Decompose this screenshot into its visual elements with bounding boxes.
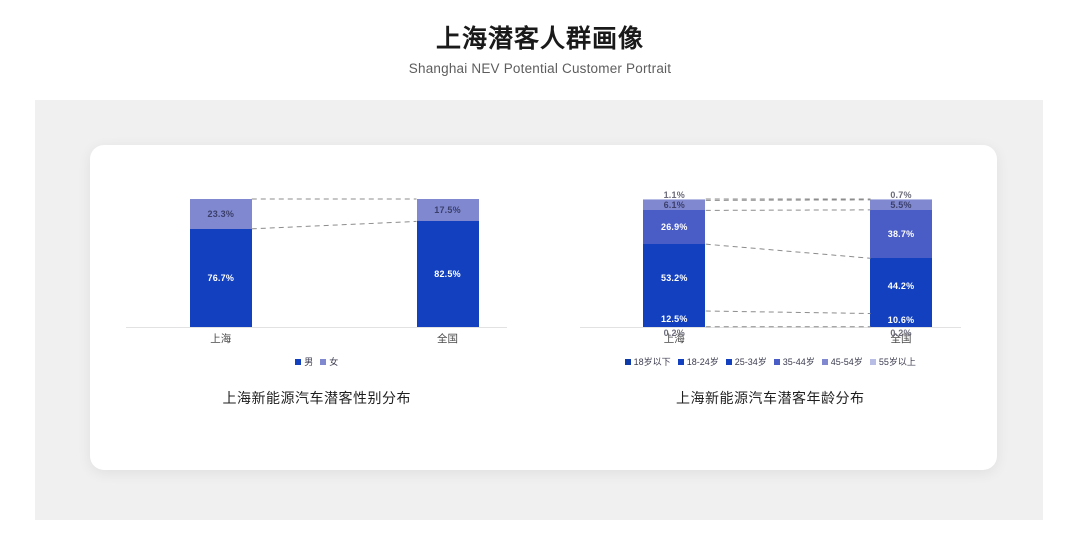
- age-legend: 18岁以下18-24岁25-34岁35-44岁45-54岁55岁以上: [544, 355, 998, 368]
- age-bar-shanghai[interactable]: 1.1%6.1%26.9%53.2%12.5%0.2%: [643, 199, 705, 327]
- page-header: 上海潜客人群画像 Shanghai NEV Potential Customer…: [0, 22, 1080, 79]
- chart-gender-distribution: 23.3%76.7% 17.5%82.5% 上海 全国 男女 上海新能源汽车潜客…: [90, 145, 544, 470]
- gender-bar-national[interactable]: 17.5%82.5%: [417, 199, 479, 327]
- age-segment-label: 6.1%: [664, 200, 685, 210]
- age-segment-label: 44.2%: [888, 281, 915, 291]
- gender-segment-label: 76.7%: [208, 273, 235, 283]
- gender-xlabel-national: 全国: [403, 331, 493, 346]
- gender-bar-shanghai[interactable]: 23.3%76.7%: [190, 199, 252, 327]
- gender-legend-item-男[interactable]: 男: [295, 355, 313, 368]
- age-segment-25-34岁[interactable]: 53.2%: [643, 244, 705, 311]
- gender-segment-男[interactable]: 76.7%: [190, 229, 252, 327]
- age-segment-label: 12.5%: [661, 314, 688, 324]
- slide-page: 上海潜客人群画像 Shanghai NEV Potential Customer…: [0, 0, 1080, 547]
- age-legend-item-18-24岁[interactable]: 18-24岁: [678, 355, 719, 368]
- age-segment-35-44岁[interactable]: 26.9%: [643, 210, 705, 244]
- page-subtitle: Shanghai NEV Potential Customer Portrait: [0, 59, 1080, 79]
- legend-swatch-icon: [870, 359, 876, 365]
- age-legend-label: 55岁以上: [879, 355, 916, 368]
- gender-legend: 男女: [90, 355, 544, 368]
- charts-row: 23.3%76.7% 17.5%82.5% 上海 全国 男女 上海新能源汽车潜客…: [90, 145, 997, 470]
- gender-xlabel-shanghai: 上海: [176, 331, 266, 346]
- gender-segment-label: 23.3%: [208, 209, 235, 219]
- age-legend-item-55岁以上[interactable]: 55岁以上: [870, 355, 916, 368]
- age-segment-label: 53.2%: [661, 273, 688, 283]
- gender-legend-label: 女: [329, 355, 338, 368]
- gender-segment-label: 82.5%: [434, 269, 461, 279]
- gender-legend-item-女[interactable]: 女: [320, 355, 338, 368]
- legend-swatch-icon: [625, 359, 631, 365]
- chart-age-distribution: 1.1%6.1%26.9%53.2%12.5%0.2% 0.7%5.5%38.7…: [544, 145, 998, 470]
- age-legend-item-25-34岁[interactable]: 25-34岁: [726, 355, 767, 368]
- legend-swatch-icon: [678, 359, 684, 365]
- age-bar-national[interactable]: 0.7%5.5%38.7%44.2%10.6%0.2%: [870, 199, 932, 327]
- age-segment-label: 5.5%: [890, 200, 911, 210]
- legend-swatch-icon: [320, 359, 326, 365]
- legend-swatch-icon: [295, 359, 301, 365]
- age-legend-label: 18岁以下: [634, 355, 671, 368]
- age-segment-45-54岁[interactable]: 6.1%: [643, 200, 705, 210]
- page-title: 上海潜客人群画像: [0, 22, 1080, 56]
- age-segment-label: 0.2%: [664, 328, 685, 338]
- gender-plot-area: 23.3%76.7% 17.5%82.5%: [90, 183, 544, 328]
- gender-chart-caption: 上海新能源汽车潜客性别分布: [90, 388, 544, 408]
- age-legend-item-45-54岁[interactable]: 45-54岁: [822, 355, 863, 368]
- age-legend-label: 18-24岁: [687, 355, 719, 368]
- age-x-axis-labels: 上海 全国: [544, 331, 998, 347]
- age-legend-label: 35-44岁: [783, 355, 815, 368]
- age-segment-label: 10.6%: [888, 315, 915, 325]
- age-legend-item-35-44岁[interactable]: 35-44岁: [774, 355, 815, 368]
- age-segment-label: 1.1%: [664, 190, 685, 200]
- gender-segment-label: 17.5%: [434, 205, 461, 215]
- charts-card: 23.3%76.7% 17.5%82.5% 上海 全国 男女 上海新能源汽车潜客…: [90, 145, 997, 470]
- age-chart-caption: 上海新能源汽车潜客年龄分布: [544, 388, 998, 408]
- age-legend-item-18岁以下[interactable]: 18岁以下: [625, 355, 671, 368]
- gender-segment-女[interactable]: 17.5%: [417, 199, 479, 221]
- gender-segment-男[interactable]: 82.5%: [417, 221, 479, 327]
- age-segment-label: 0.2%: [890, 328, 911, 338]
- age-segment-18-24岁[interactable]: 12.5%: [643, 311, 705, 327]
- age-segment-label: 26.9%: [661, 222, 688, 232]
- age-legend-label: 45-54岁: [831, 355, 863, 368]
- age-legend-label: 25-34岁: [735, 355, 767, 368]
- age-segment-label: 0.7%: [890, 190, 911, 200]
- age-segment-35-44岁[interactable]: 38.7%: [870, 210, 932, 258]
- legend-swatch-icon: [822, 359, 828, 365]
- age-segment-45-54岁[interactable]: 5.5%: [870, 200, 932, 210]
- age-plot-area: 1.1%6.1%26.9%53.2%12.5%0.2% 0.7%5.5%38.7…: [544, 183, 998, 328]
- age-segment-label: 38.7%: [888, 229, 915, 239]
- age-segment-18-24岁[interactable]: 10.6%: [870, 314, 932, 327]
- gender-legend-label: 男: [304, 355, 313, 368]
- gender-segment-女[interactable]: 23.3%: [190, 199, 252, 229]
- gender-x-axis-labels: 上海 全国: [90, 331, 544, 347]
- age-segment-25-34岁[interactable]: 44.2%: [870, 258, 932, 313]
- legend-swatch-icon: [774, 359, 780, 365]
- gender-axis-line: [126, 327, 507, 328]
- legend-swatch-icon: [726, 359, 732, 365]
